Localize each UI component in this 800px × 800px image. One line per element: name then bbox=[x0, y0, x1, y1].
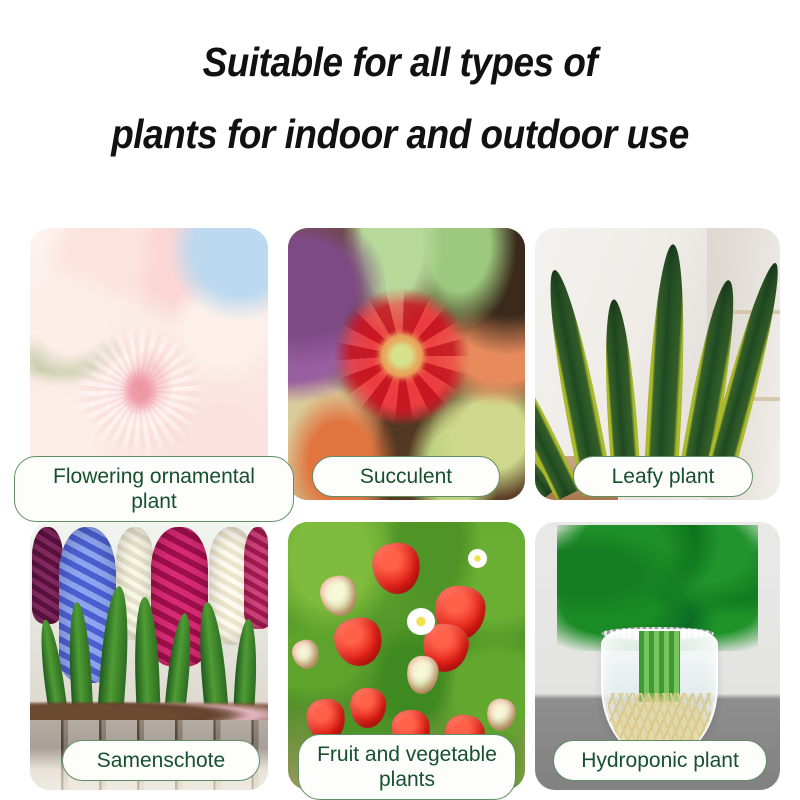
plant-tile-hydroponic-plant[interactable]: Hydroponic plant bbox=[535, 522, 780, 790]
unripe-strawberry bbox=[317, 572, 361, 620]
plant-tile-flowering-ornamental-plant[interactable]: Flowering ornamental plant bbox=[30, 228, 268, 500]
plant-label-hydroponic-plant: Hydroponic plant bbox=[553, 740, 767, 781]
unripe-strawberry bbox=[405, 654, 440, 695]
plant-tile-fruit-and-vegetable-plants[interactable]: Fruit and vegetable plants bbox=[288, 522, 525, 790]
strawberry-fruit bbox=[348, 687, 386, 730]
plant-label-flowering-ornamental-plant: Flowering ornamental plant bbox=[14, 456, 294, 522]
strawberry-fruit bbox=[331, 614, 387, 671]
plant-tile-succulent[interactable]: Succulent bbox=[288, 228, 525, 500]
plant-tile-samenschote[interactable]: Samenschote bbox=[30, 522, 268, 790]
page-title-line-1: Suitable for all types of bbox=[40, 26, 760, 98]
page-title-line-2: plants for indoor and outdoor use bbox=[40, 98, 760, 170]
hyacinth-flower-spike bbox=[244, 527, 268, 629]
unripe-strawberry bbox=[485, 697, 518, 733]
page-title: Suitable for all types of plants for ind… bbox=[40, 26, 760, 170]
plant-tile-leafy-plant[interactable]: Leafy plant bbox=[535, 228, 780, 500]
plant-label-leafy-plant: Leafy plant bbox=[573, 456, 753, 497]
strawberry-fruit bbox=[370, 540, 424, 597]
plant-label-samenschote: Samenschote bbox=[62, 740, 260, 781]
bamboo-stems bbox=[639, 631, 680, 702]
plant-label-succulent: Succulent bbox=[312, 456, 500, 497]
strawberry-flower bbox=[468, 549, 487, 568]
plant-type-grid: Flowering ornamental plant Succulent Lea… bbox=[0, 222, 800, 800]
unripe-strawberry bbox=[289, 637, 323, 673]
plant-label-fruit-and-vegetable-plants: Fruit and vegetable plants bbox=[298, 734, 516, 800]
strawberry-flower bbox=[407, 608, 435, 635]
